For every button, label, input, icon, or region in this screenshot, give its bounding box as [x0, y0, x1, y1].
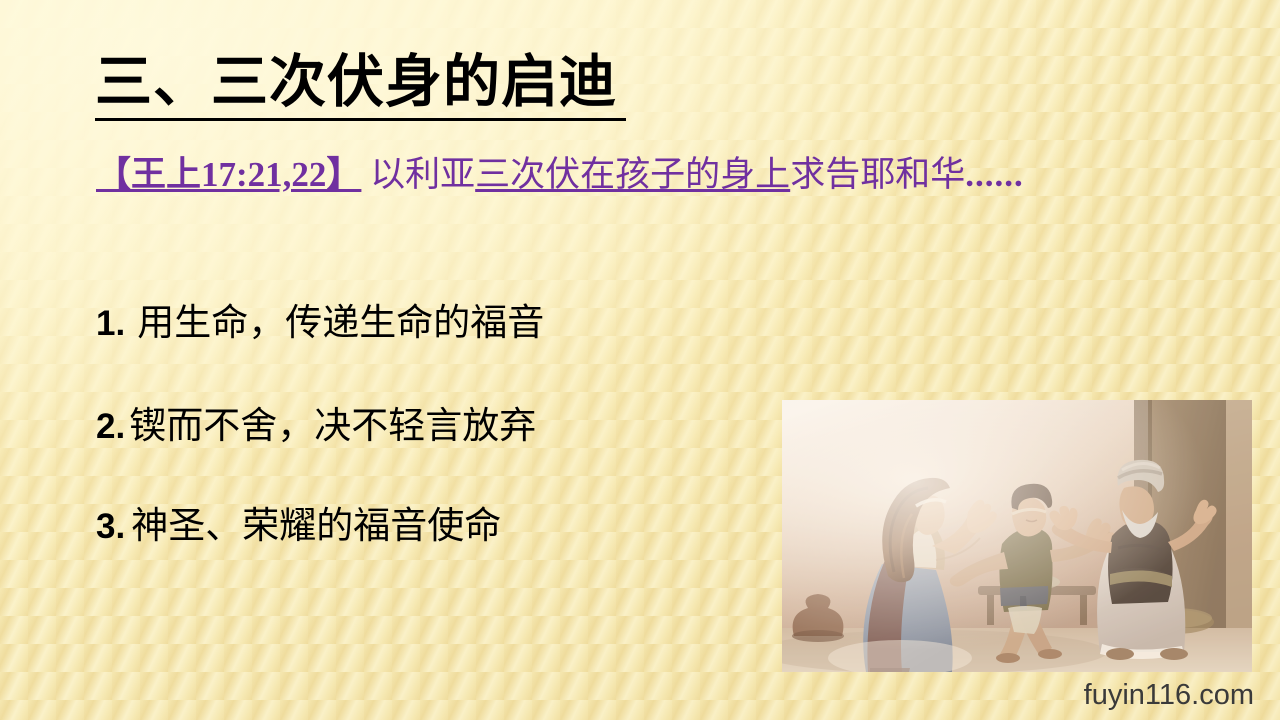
presentation-slide: 三、三次伏身的启迪 【王上17:21,22】 以利亚三次伏在孩子的身上求告耶和华…: [0, 0, 1280, 720]
slide-title: 三、三次伏身的启迪: [95, 54, 617, 112]
list-item: 1.用生命，传递生命的福音: [96, 305, 544, 342]
list-item-label: 神圣、荣耀的福音使命: [125, 506, 501, 547]
list-item-number: 2.: [96, 407, 125, 446]
illustration-image: [782, 400, 1252, 672]
list-item-number: 3.: [96, 507, 125, 546]
scripture-quote: 【王上17:21,22】 以利亚三次伏在孩子的身上求告耶和华......: [96, 152, 1136, 199]
site-watermark: fuyin116.com: [1084, 679, 1254, 712]
scripture-tail: 求告耶和: [790, 155, 930, 194]
scripture-continuation: 华: [930, 155, 965, 194]
scripture-ellipsis: ......: [965, 155, 1024, 194]
scripture-reference: 【王上17:21,22】: [96, 155, 361, 194]
list-item-label: 锲而不舍，决不轻言放弃: [125, 406, 536, 447]
list-item-number: 1.: [96, 304, 125, 343]
list-item: 3.神圣、荣耀的福音使命: [96, 508, 501, 545]
scripture-lead: 以利亚: [361, 155, 475, 194]
list-item-label: 用生命，传递生命的福音: [125, 303, 544, 344]
slide-title-underline: [95, 118, 626, 121]
list-item: 2.锲而不舍，决不轻言放弃: [96, 408, 536, 445]
scripture-emphasis: 三次伏在孩子的身上: [475, 155, 790, 194]
